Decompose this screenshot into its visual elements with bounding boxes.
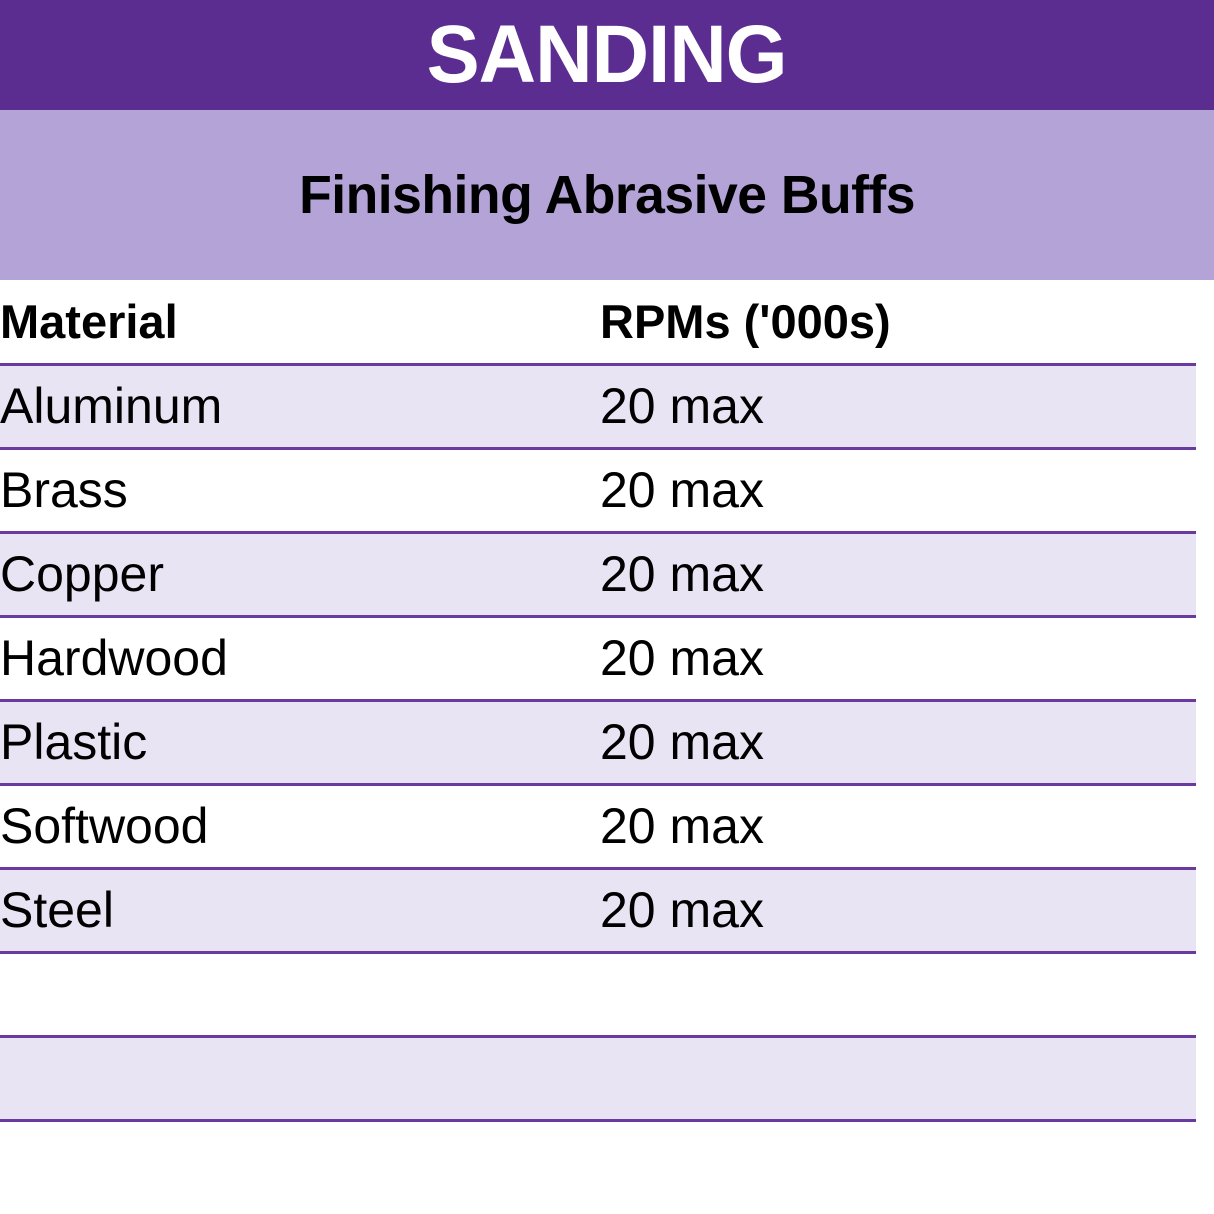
page-title: SANDING xyxy=(427,14,787,96)
page-subtitle: Finishing Abrasive Buffs xyxy=(299,168,915,222)
cell-material: Softwood xyxy=(0,784,600,868)
cell-rpm: 20 max xyxy=(600,532,1196,616)
cell-rpm: 20 max xyxy=(600,784,1196,868)
column-header-rpm: RPMs ('000s) xyxy=(600,280,1196,364)
table-row: Plastic 20 max xyxy=(0,700,1196,784)
cell-rpm: 20 max xyxy=(600,616,1196,700)
speed-table-wrapper: Material RPMs ('000s) Aluminum 20 max Br… xyxy=(0,280,1214,1214)
table-row: Steel 20 max xyxy=(0,868,1196,952)
cell-material: Plastic xyxy=(0,700,600,784)
column-header-material: Material xyxy=(0,280,600,364)
table-row-empty xyxy=(0,1036,1196,1120)
cell-material: Steel xyxy=(0,868,600,952)
table-header-row: Material RPMs ('000s) xyxy=(0,280,1196,364)
cell-material: Hardwood xyxy=(0,616,600,700)
subtitle-band: Finishing Abrasive Buffs xyxy=(0,110,1214,280)
cell-rpm xyxy=(600,1036,1196,1120)
table-row: Softwood 20 max xyxy=(0,784,1196,868)
table-body: Aluminum 20 max Brass 20 max Copper 20 m… xyxy=(0,364,1196,1120)
cell-rpm: 20 max xyxy=(600,364,1196,448)
title-band: SANDING xyxy=(0,0,1214,110)
speed-table: Material RPMs ('000s) Aluminum 20 max Br… xyxy=(0,280,1196,1122)
cell-material xyxy=(0,952,600,1036)
table-row: Copper 20 max xyxy=(0,532,1196,616)
cell-rpm: 20 max xyxy=(600,868,1196,952)
table-row: Brass 20 max xyxy=(0,448,1196,532)
cell-material xyxy=(0,1036,600,1120)
table-row-empty xyxy=(0,952,1196,1036)
table-row: Aluminum 20 max xyxy=(0,364,1196,448)
cell-rpm xyxy=(600,952,1196,1036)
cell-material: Aluminum xyxy=(0,364,600,448)
sanding-speed-chart-card: SANDING Finishing Abrasive Buffs Materia… xyxy=(0,0,1214,1214)
cell-rpm: 20 max xyxy=(600,448,1196,532)
cell-material: Brass xyxy=(0,448,600,532)
cell-rpm: 20 max xyxy=(600,700,1196,784)
cell-material: Copper xyxy=(0,532,600,616)
table-row: Hardwood 20 max xyxy=(0,616,1196,700)
